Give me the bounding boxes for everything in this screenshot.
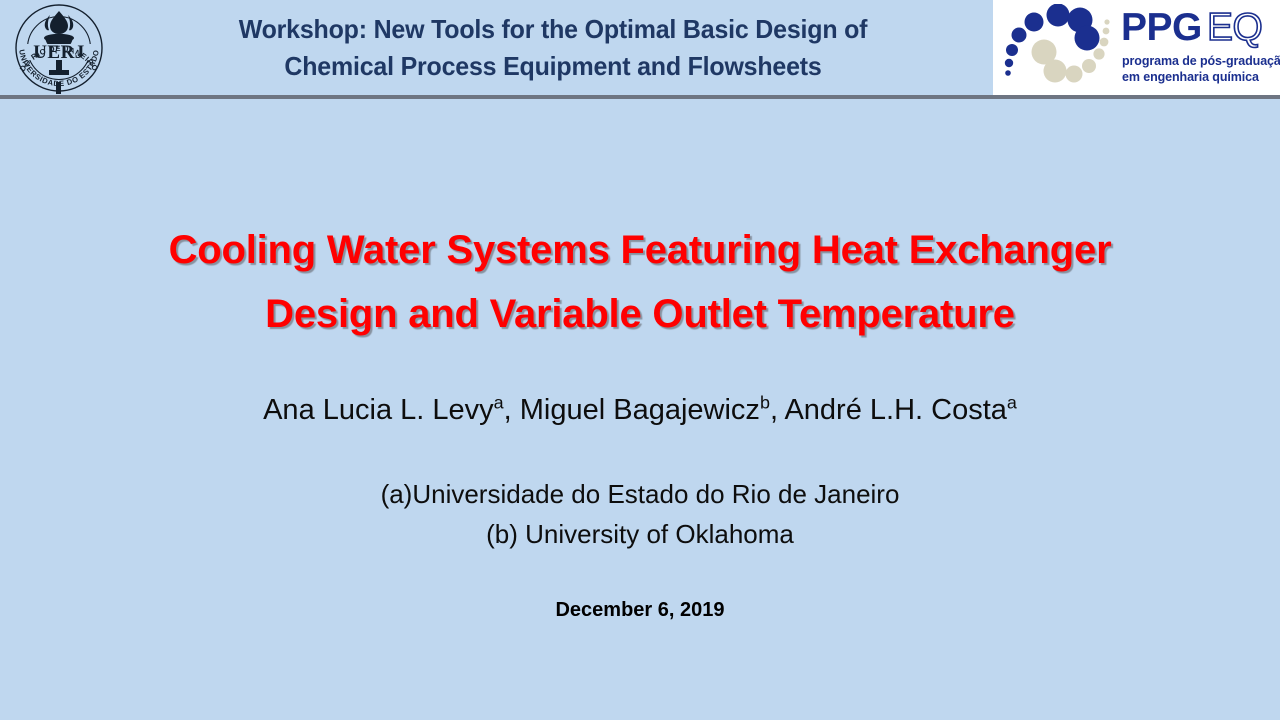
affiliation-a: (a)Universidade do Estado do Rio de Jane… bbox=[90, 474, 1190, 514]
affiliation-b: (b) University of Oklahoma bbox=[90, 514, 1190, 554]
slide-title-line-1: Cooling Water Systems Featuring Heat Exc… bbox=[90, 218, 1190, 282]
presentation-slide: UERJ DO RIO DE JANEIRO UNIVERSIDADE DO E… bbox=[0, 0, 1280, 720]
ppgeq-word-eq: EQ bbox=[1207, 8, 1262, 48]
slide-header-band: UERJ DO RIO DE JANEIRO UNIVERSIDADE DO E… bbox=[0, 0, 1280, 95]
ppgeq-tagline-line-2: em engenharia química bbox=[1122, 70, 1259, 84]
author-3-affiliation-mark: a bbox=[1007, 392, 1017, 412]
author-3-name: André L.H. Costa bbox=[784, 394, 1006, 426]
authors-separator-1: , bbox=[504, 394, 520, 426]
workshop-header-title: Workshop: New Tools for the Optimal Basi… bbox=[137, 3, 968, 93]
slide-title-line-2: Design and Variable Outlet Temperature bbox=[90, 282, 1190, 346]
author-2-name: Miguel Bagajewicz bbox=[520, 394, 760, 426]
ppgeq-tagline-line-1: programa de pós-graduação bbox=[1122, 54, 1280, 68]
slide-title: Cooling Water Systems Featuring Heat Exc… bbox=[90, 218, 1190, 346]
authors-separator-2: , bbox=[770, 394, 785, 426]
ppgeq-logo: PPG EQ programa de pós-graduação em enge… bbox=[993, 0, 1280, 95]
header-title-line-2: Chemical Process Equipment and Flowsheet… bbox=[284, 48, 821, 85]
header-title-line-1: Workshop: New Tools for the Optimal Basi… bbox=[239, 11, 868, 48]
author-2-affiliation-mark: b bbox=[760, 392, 770, 412]
authors-line: Ana Lucia L. Levya, Miguel Bagajewiczb, … bbox=[90, 390, 1190, 430]
ppgeq-wordmark: PPG EQ programa de pós-graduação em enge… bbox=[1121, 6, 1276, 90]
affiliations-block: (a)Universidade do Estado do Rio de Jane… bbox=[90, 474, 1190, 554]
ppgeq-word-ppg: PPG bbox=[1121, 8, 1202, 48]
presentation-date: December 6, 2019 bbox=[90, 596, 1190, 624]
ppgeq-spiral-icon bbox=[999, 4, 1119, 90]
uerj-seal-logo: UERJ DO RIO DE JANEIRO UNIVERSIDADE DO E… bbox=[8, 0, 110, 98]
author-1-name: Ana Lucia L. Levy bbox=[263, 394, 494, 426]
header-divider-line bbox=[0, 95, 1280, 99]
author-1-affiliation-mark: a bbox=[494, 392, 504, 412]
